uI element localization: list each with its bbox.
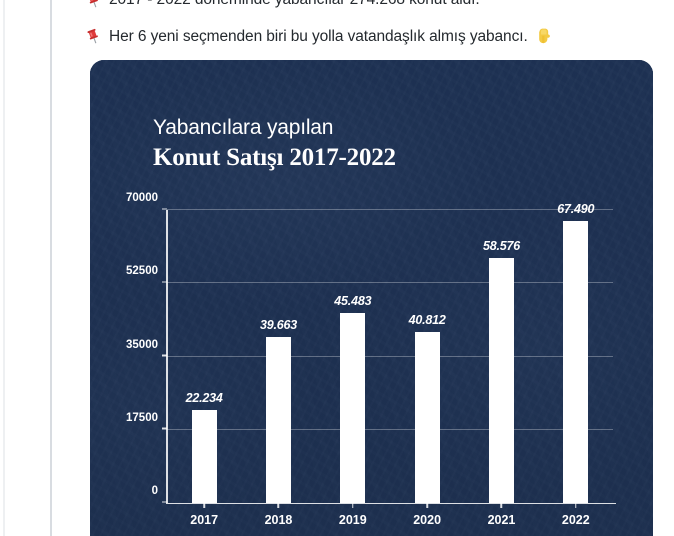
chart-title-bold: Konut Satışı 2017-2022 xyxy=(153,143,396,173)
y-axis-tick-label: 17500 xyxy=(126,412,158,424)
y-axis-tick-label: 70000 xyxy=(126,192,158,204)
x-axis-tick-mark xyxy=(575,503,577,508)
bar: 67.490 xyxy=(563,221,588,503)
pushpin-icon xyxy=(85,0,102,9)
bar-value-label: 22.234 xyxy=(186,391,223,405)
bar-slot: 67.4902022 xyxy=(539,210,613,503)
bar: 40.812 xyxy=(415,332,440,503)
chart-plot-area: 017500350005250070000 22.234201739.66320… xyxy=(167,210,613,503)
y-axis-tick-label: 35000 xyxy=(126,339,158,351)
x-axis-tick-label: 2018 xyxy=(265,513,293,527)
bar-slot: 58.5762021 xyxy=(464,210,538,503)
backhand-index-pointing-down-icon xyxy=(535,27,552,46)
bar-value-label: 39.663 xyxy=(260,318,297,332)
x-axis-tick-label: 2017 xyxy=(190,513,218,527)
x-axis-tick-label: 2021 xyxy=(488,513,516,527)
post-line-1-text: 2017 - 2022 döneminde yabancılar 274.268… xyxy=(109,0,480,9)
bar-slot: 45.4832019 xyxy=(316,210,390,503)
post-content-area: 2017 - 2022 döneminde yabancılar 274.268… xyxy=(52,0,674,536)
post-line-2: Her 6 yeni seçmenden biri bu yolla vatan… xyxy=(85,27,552,46)
page-edge-rule xyxy=(3,0,5,536)
bar-value-label: 67.490 xyxy=(557,202,594,216)
post-line-1: 2017 - 2022 döneminde yabancılar 274.268… xyxy=(85,0,480,9)
x-axis-tick-mark xyxy=(352,503,354,508)
bar-slot: 39.6632018 xyxy=(241,210,315,503)
bar-value-label: 58.576 xyxy=(483,239,520,253)
x-axis-tick-mark xyxy=(426,503,428,508)
chart-title-light: Yabancılara yapılan xyxy=(153,116,396,141)
x-axis-tick-mark xyxy=(203,503,205,508)
y-axis-tick-label: 52500 xyxy=(126,265,158,277)
bar-slot: 40.8122020 xyxy=(390,210,464,503)
chart-title: Yabancılara yapılan Konut Satışı 2017-20… xyxy=(153,116,396,173)
bar-value-label: 40.812 xyxy=(409,313,446,327)
bar: 39.663 xyxy=(266,337,291,503)
chart-card: Yabancılara yapılan Konut Satışı 2017-20… xyxy=(90,60,653,536)
x-axis-tick-mark xyxy=(501,503,503,508)
y-axis-tick-label: 0 xyxy=(152,485,158,497)
bar: 22.234 xyxy=(192,410,217,503)
x-axis-tick-label: 2019 xyxy=(339,513,367,527)
bar-slot: 22.2342017 xyxy=(167,210,241,503)
x-axis-tick-mark xyxy=(278,503,280,508)
bar: 45.483 xyxy=(340,313,365,503)
bar: 58.576 xyxy=(489,258,514,503)
bars-group: 22.234201739.663201845.483201940.8122020… xyxy=(167,210,613,503)
page-left-gutter xyxy=(0,0,44,536)
post-line-2-text: Her 6 yeni seçmenden biri bu yolla vatan… xyxy=(109,28,528,46)
pushpin-icon xyxy=(85,28,102,45)
x-axis-tick-label: 2022 xyxy=(562,513,590,527)
bar-value-label: 45.483 xyxy=(334,294,371,308)
x-axis-tick-label: 2020 xyxy=(413,513,441,527)
